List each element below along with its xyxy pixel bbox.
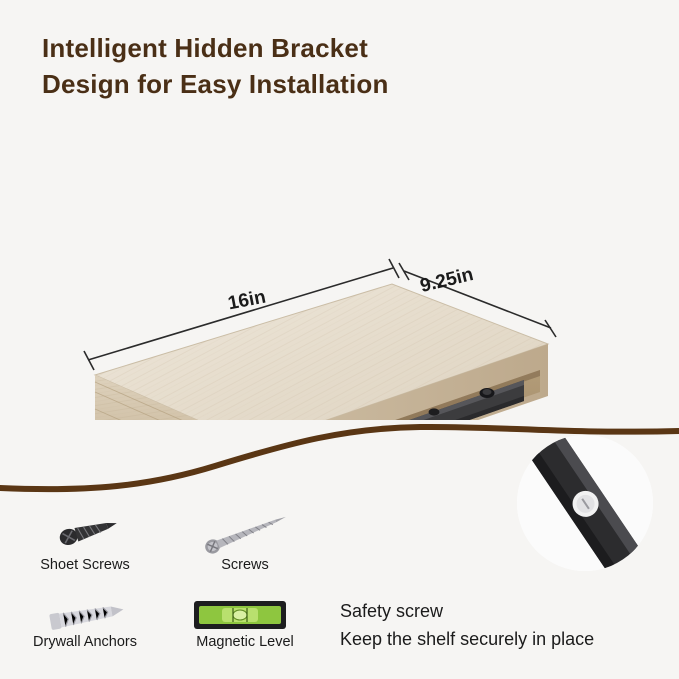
screw-long-icon — [196, 511, 296, 555]
level-icon — [192, 595, 288, 635]
shoe-screws-item — [46, 515, 126, 554]
shoe-screws-label: Shoet Screws — [0, 557, 170, 573]
safety-screw-caption: Safety screw Keep the shelf securely in … — [340, 597, 594, 653]
page-title-line2: Design for Easy Installation — [42, 66, 642, 102]
accessories-section: Shoet Screws — [0, 495, 679, 679]
anchor-icon — [40, 598, 132, 634]
drywall-anchors-label: Drywall Anchors — [0, 634, 170, 650]
page-title: Intelligent Hidden Bracket Design for Ea… — [42, 30, 642, 102]
safety-screw-closeup — [490, 435, 679, 620]
safety-screw-line1: Safety screw — [340, 601, 443, 621]
safety-screw-line2: Keep the shelf securely in place — [340, 625, 594, 653]
product-infographic: Intelligent Hidden Bracket Design for Ea… — [0, 0, 679, 679]
screw-short-icon — [46, 515, 126, 549]
screws-item — [196, 511, 296, 560]
screws-label: Screws — [160, 557, 330, 573]
page-title-line1: Intelligent Hidden Bracket — [42, 33, 368, 63]
magnetic-level-label: Magnetic Level — [160, 634, 330, 650]
drywall-anchors-item — [40, 598, 132, 639]
shelf-svg — [0, 120, 679, 420]
shelf-illustration: 16in 9.25in — [0, 120, 679, 420]
